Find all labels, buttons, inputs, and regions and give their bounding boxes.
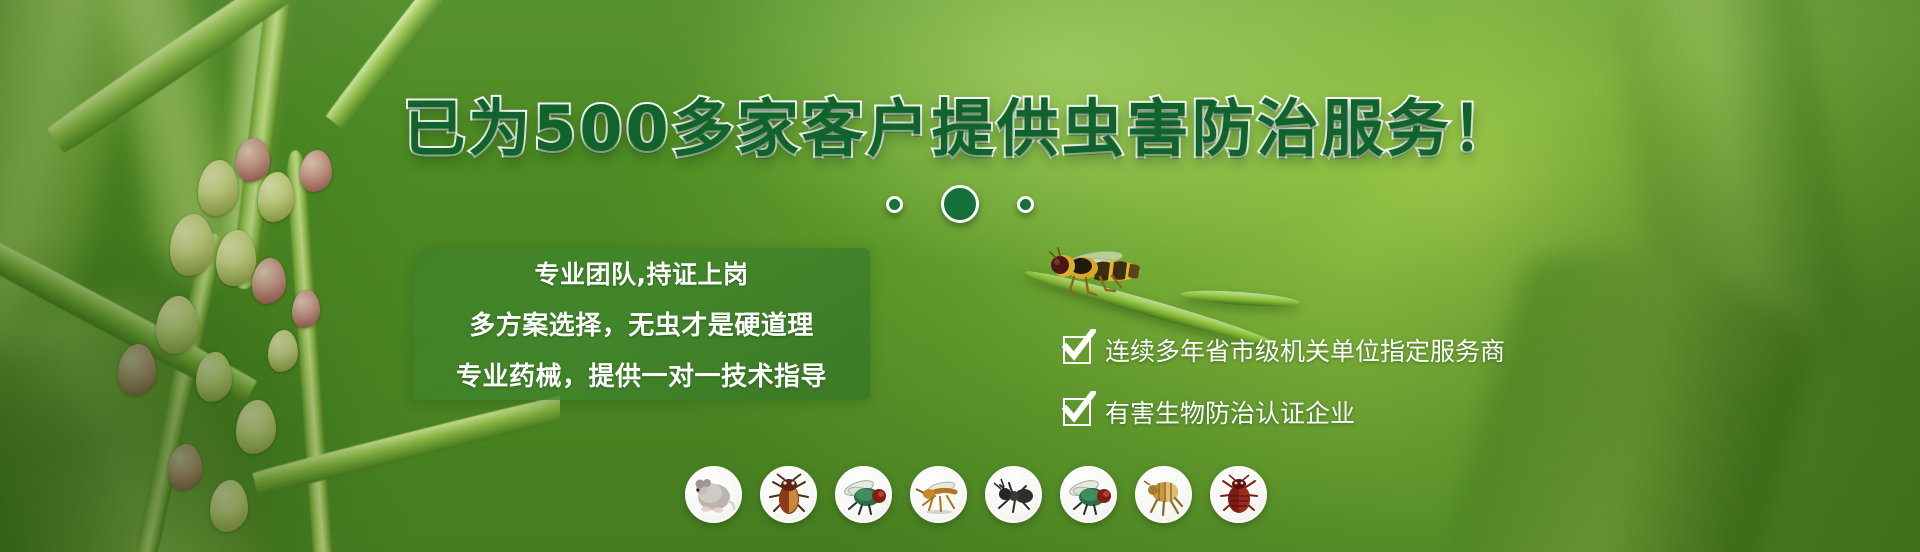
decor-dot-small-left (886, 196, 903, 213)
panel-line-3: 专业药械，提供一对一技术指导 (456, 356, 827, 393)
credentials-list: 连续多年省市级机关单位指定服务商 有害生物防治认证企业 (1063, 332, 1505, 430)
panel-line-1: 专业团队,持证上岗 (535, 255, 749, 291)
hoverfly-insect (1040, 243, 1160, 303)
fly-icon (835, 466, 892, 523)
page-title: 已为500多家客户提供虫害防治服务！ (0, 78, 1920, 168)
selling-points-panel: 专业团队,持证上岗 多方案选择，无虫才是硬道理 专业药械，提供一对一技术指导 (413, 248, 870, 400)
list-item: 有害生物防治认证企业 (1063, 394, 1505, 430)
checkbox-checked-icon (1063, 336, 1091, 364)
list-item-label: 有害生物防治认证企业 (1105, 394, 1355, 430)
decor-dot-small-right (1017, 196, 1034, 213)
checkbox-checked-icon (1063, 398, 1091, 426)
mosquito-icon (910, 466, 967, 523)
list-item: 连续多年省市级机关单位指定服务商 (1063, 332, 1505, 368)
panel-line-2: 多方案选择，无虫才是硬道理 (469, 305, 814, 342)
cockroach-icon (760, 466, 817, 523)
pest-control-hero-banner: 已为500多家客户提供虫害防治服务！ 专业团队,持证上岗 多方案选择，无虫才是硬… (0, 0, 1920, 552)
mouse-icon (685, 466, 742, 523)
ant-icon (985, 466, 1042, 523)
decorative-dot-row (886, 185, 1034, 223)
pest-type-icon-row (685, 466, 1267, 523)
fly-icon (1060, 466, 1117, 523)
bedbug-icon (1210, 466, 1267, 523)
decor-dot-big-center (941, 185, 979, 223)
list-item-label: 连续多年省市级机关单位指定服务商 (1105, 332, 1505, 368)
flea-icon (1135, 466, 1192, 523)
